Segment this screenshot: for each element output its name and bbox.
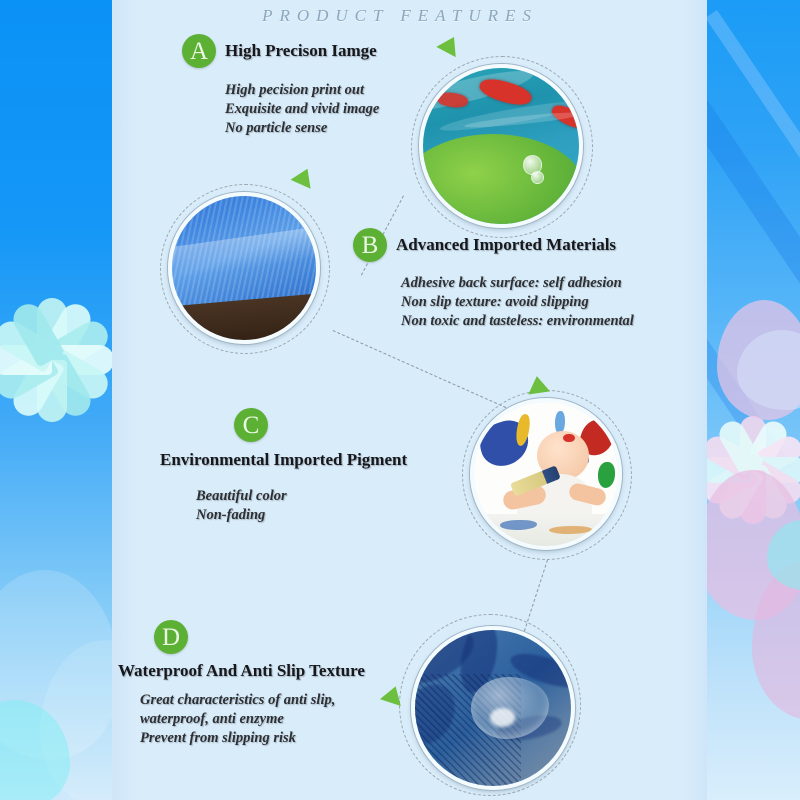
feature-b-line-1: Adhesive back surface: self adhesion <box>401 274 634 293</box>
right-decorative-band <box>707 0 800 800</box>
feature-d-line-1: Great characteristics of anti slip, <box>140 691 365 710</box>
feature-a-heading: High Precison Iamge <box>225 41 377 61</box>
right-fade-strip <box>681 0 707 800</box>
badge-d: D <box>154 620 188 654</box>
feature-block-b: B Advanced Imported Materials Adhesive b… <box>353 228 634 331</box>
feature-d-line-2: waterproof, anti enzyme <box>140 710 365 729</box>
badge-b: B <box>353 228 387 262</box>
left-decorative-band <box>0 0 112 800</box>
feature-a-line-1: High pecision print out <box>225 81 379 100</box>
feature-block-a: A High Precison Iamge High pecision prin… <box>182 34 379 138</box>
feature-block-c: C Environmental Imported Pigment Beautif… <box>160 408 407 525</box>
feature-b-heading: Advanced Imported Materials <box>396 235 616 255</box>
photo-a-koi-fish-lily-pad <box>419 64 583 228</box>
infographic-canvas: PRODUCT FEATURES A High Precison Iamge H… <box>0 0 800 800</box>
photo-c-baby-with-paintbrush <box>470 398 622 550</box>
badge-a: A <box>182 34 216 68</box>
page-title: PRODUCT FEATURES <box>138 6 662 26</box>
feature-c-line-2: Non-fading <box>196 506 407 525</box>
feature-c-heading: Environmental Imported Pigment <box>160 450 407 470</box>
photo-d-water-droplet-texture <box>411 626 575 790</box>
arrow-to-photo-c <box>526 375 550 395</box>
photo-b-blue-ribbed-fabric <box>168 192 320 344</box>
feature-c-line-1: Beautiful color <box>196 487 407 506</box>
feature-block-d: D Waterproof And Anti Slip Texture Great… <box>118 620 365 748</box>
feature-a-line-3: No particle sense <box>225 119 379 138</box>
feature-b-line-2: Non slip texture: avoid slipping <box>401 293 634 312</box>
feature-b-line-3: Non toxic and tasteless: environmental <box>401 312 634 331</box>
feature-a-line-2: Exquisite and vivid image <box>225 100 379 119</box>
feature-d-heading: Waterproof And Anti Slip Texture <box>118 661 365 681</box>
badge-c: C <box>234 408 268 442</box>
feature-d-line-3: Prevent from slipping risk <box>140 729 365 748</box>
